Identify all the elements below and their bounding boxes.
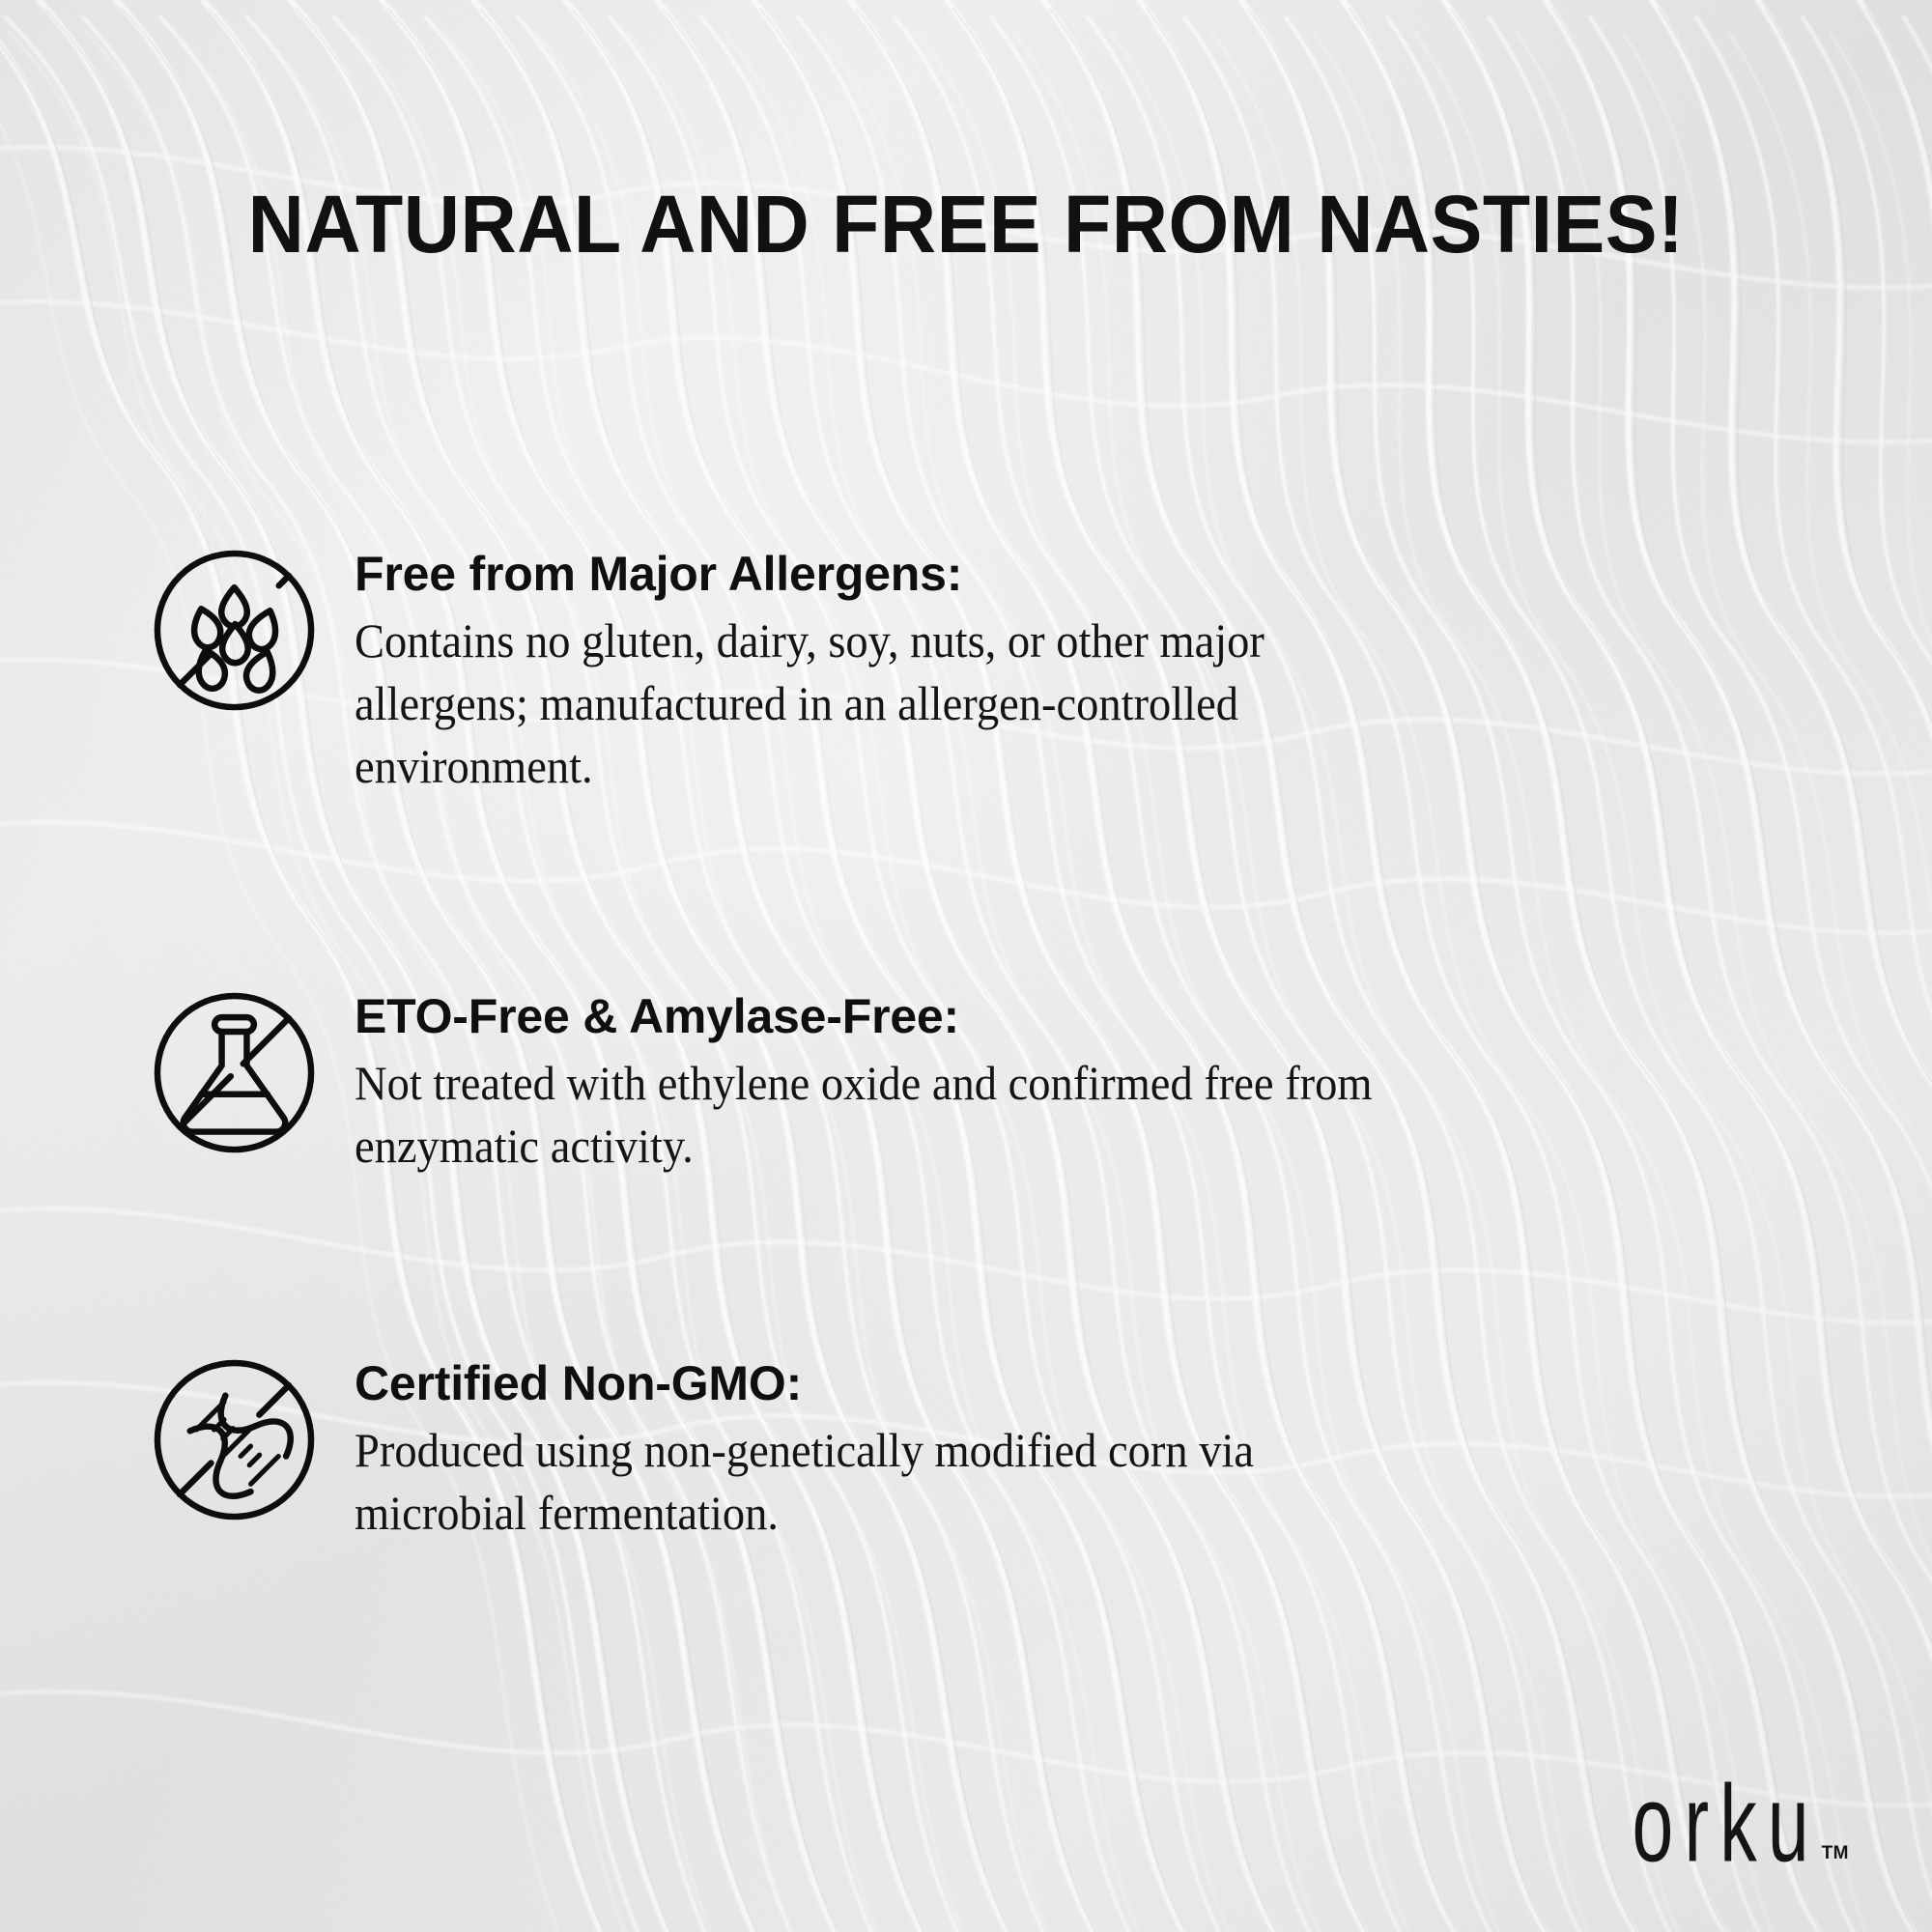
brand-logo: orku TM [1585,1788,1849,1876]
brand-wordmark: orku [1632,1772,1819,1876]
feature-heading: Certified Non-GMO: [355,1358,1707,1409]
feature-text-block: ETO-Free & Amylase-Free: Not treated wit… [355,983,1707,1178]
feature-row: Free from Major Allergens: Contains no g… [145,541,1816,798]
feature-row: ETO-Free & Amylase-Free: Not treated wit… [145,983,1816,1178]
no-gmo-dna-icon [145,1350,324,1529]
feature-body: Produced using non-genetically modified … [355,1419,1307,1545]
poster-content: NATURAL AND FREE FROM NASTIES! [0,0,1932,1932]
poster-canvas: NATURAL AND FREE FROM NASTIES! [0,0,1932,1932]
feature-text-block: Certified Non-GMO: Produced using non-ge… [355,1350,1707,1545]
trademark-symbol: TM [1822,1843,1849,1864]
feature-row: Certified Non-GMO: Produced using non-ge… [145,1350,1816,1545]
feature-heading: ETO-Free & Amylase-Free: [355,991,1707,1042]
feature-heading: Free from Major Allergens: [355,549,1707,600]
feature-body: Contains no gluten, dairy, soy, nuts, or… [355,610,1334,798]
page-title: NATURAL AND FREE FROM NASTIES! [39,178,1893,271]
feature-body: Not treated with ethylene oxide and conf… [355,1052,1451,1178]
no-chemical-flask-icon [145,983,324,1162]
no-gluten-grain-icon [145,541,324,720]
feature-text-block: Free from Major Allergens: Contains no g… [355,541,1707,798]
